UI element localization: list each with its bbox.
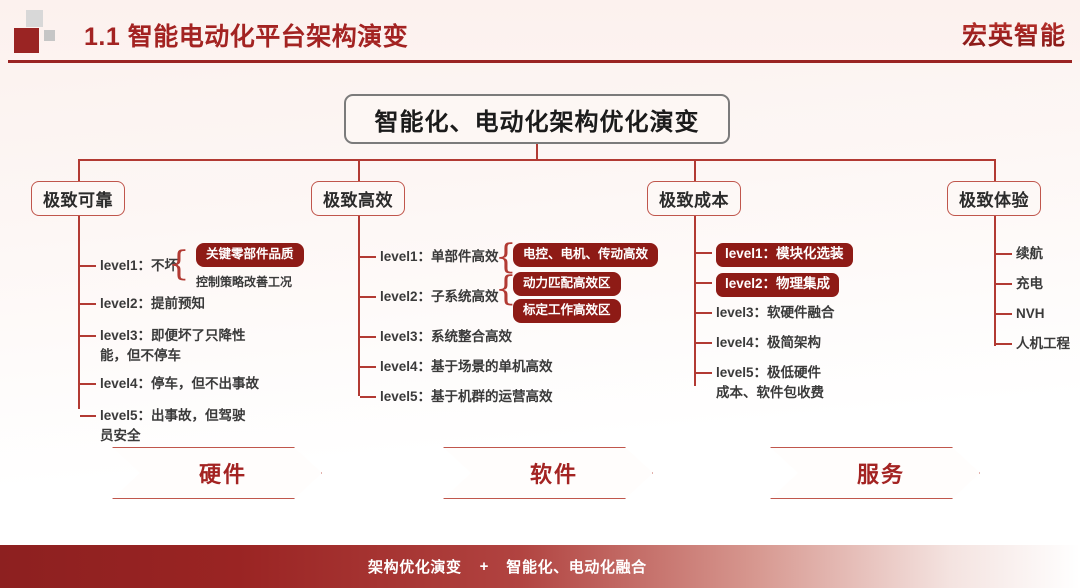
list-item: 人机工程	[996, 334, 1070, 354]
category-label-2: 极致高效	[323, 186, 393, 211]
list-item: level3：软硬件融合	[696, 303, 835, 323]
category-label-3: 极致成本	[659, 186, 729, 211]
category-box-efficiency: 极致高效	[311, 181, 405, 216]
category-box-cost: 极致成本	[647, 181, 741, 216]
chevron-label: 软件	[530, 457, 578, 489]
list-item: level5：出事故，但驾驶 员安全	[80, 406, 246, 445]
leaf-tick-icon	[360, 396, 376, 398]
leaf-label: level3：即便坏了只降性 能，但不停车	[100, 326, 246, 365]
list-item: level4：极简架构	[696, 333, 821, 353]
leaf-label: level3：系统整合高效	[380, 327, 512, 347]
leaf-label: level1：单部件高效	[380, 247, 499, 267]
leaf-tick-icon	[80, 335, 96, 337]
connector-root-stem	[536, 144, 538, 160]
chevron-hardware: 硬件	[112, 447, 322, 499]
list-item: level2：子系统高效	[360, 287, 499, 307]
leaf-tick-icon	[696, 372, 712, 374]
category-label-1: 极致可靠	[43, 186, 113, 211]
list-item: level1：不坏	[80, 256, 178, 276]
leaf-label: level1：不坏	[100, 256, 178, 276]
list-item: NVH	[996, 304, 1045, 324]
annotation-badge: 关键零部件品质	[196, 243, 304, 267]
list-item: level3：系统整合高效	[360, 327, 512, 347]
chevron-label: 服务	[857, 457, 905, 489]
leaf-label-highlighted: level1：模块化选装	[716, 243, 853, 267]
leaf-tick-icon	[360, 256, 376, 258]
slide-root: 1.1 智能电动化平台架构演变 宏英智能 智能化、电动化架构优化演变 极致可靠 …	[0, 0, 1080, 588]
category-box-reliability: 极致可靠	[31, 181, 125, 216]
decor-square-red	[14, 28, 39, 53]
list-item: level1：模块化选装	[696, 243, 853, 267]
brace-icon-col1: {	[168, 247, 190, 281]
root-node-box: 智能化、电动化架构优化演变	[344, 94, 730, 144]
leaf-label: 续航	[1016, 244, 1043, 264]
leaf-tick-icon	[80, 303, 96, 305]
leaf-label: 充电	[1016, 274, 1043, 294]
brand-logo: 宏英智能	[962, 16, 1066, 52]
slide-header: 1.1 智能电动化平台架构演变 宏英智能	[0, 0, 1080, 62]
decor-square-gray-top	[26, 10, 43, 27]
leaf-tick-icon	[360, 336, 376, 338]
leaf-tick-icon	[360, 366, 376, 368]
annotation-badge: 电控、电机、传动高效	[513, 243, 658, 267]
slide-footer: 架构优化演变 + 智能化、电动化融合	[0, 545, 1080, 588]
leaf-label: NVH	[1016, 304, 1045, 324]
header-divider	[8, 60, 1072, 63]
root-node-label: 智能化、电动化架构优化演变	[375, 102, 700, 137]
list-item: level3：即便坏了只降性 能，但不停车	[80, 326, 246, 365]
footer-plus-symbol: +	[480, 558, 489, 575]
connector-branch-3	[694, 159, 696, 181]
page-title: 1.1 智能电动化平台架构演变	[84, 17, 408, 53]
leaf-tick-icon	[996, 343, 1012, 345]
leaf-label: level5：出事故，但驾驶 员安全	[100, 406, 246, 445]
leaf-label: level5：极低硬件 成本、软件包收费	[716, 363, 824, 402]
chevron-label: 硬件	[199, 457, 247, 489]
leaf-tick-icon	[696, 342, 712, 344]
connector-horizontal-bus	[78, 159, 996, 161]
leaf-tick-icon	[696, 252, 712, 254]
leaf-tick-icon	[696, 282, 712, 284]
leaf-label-highlighted: level2：物理集成	[716, 273, 839, 297]
leaf-tick-icon	[80, 383, 96, 385]
footer-text-left: 架构优化演变	[368, 556, 462, 577]
chevron-service: 服务	[770, 447, 980, 499]
list-item: level2：提前预知	[80, 294, 205, 314]
list-item: level1：单部件高效	[360, 247, 499, 267]
list-item: 充电	[996, 274, 1043, 294]
leaf-label: level4：停车，但不出事故	[100, 374, 259, 394]
list-item: 续航	[996, 244, 1043, 264]
leaf-label: level4：基于场景的单机高效	[380, 357, 553, 377]
annotation-note: 控制策略改善工况	[196, 273, 292, 290]
leaf-tick-icon	[996, 313, 1012, 315]
chevron-software: 软件	[443, 447, 653, 499]
category-label-4: 极致体验	[959, 186, 1029, 211]
connector-branch-1	[78, 159, 80, 181]
leaf-tick-icon	[696, 312, 712, 314]
list-item: level4：基于场景的单机高效	[360, 357, 553, 377]
leaf-label: 人机工程	[1016, 334, 1070, 354]
list-item: level5：极低硬件 成本、软件包收费	[696, 363, 824, 402]
list-item: level2：物理集成	[696, 273, 839, 297]
annotation-badge: 标定工作高效区	[513, 299, 621, 323]
leaf-tick-icon	[80, 415, 96, 417]
leaf-label: level2：提前预知	[100, 294, 205, 314]
list-item: level4：停车，但不出事故	[80, 374, 259, 394]
leaf-tick-icon	[996, 283, 1012, 285]
leaf-tick-icon	[996, 253, 1012, 255]
category-box-experience: 极致体验	[947, 181, 1041, 216]
annotation-badge: 动力匹配高效区	[513, 272, 621, 296]
footer-text-right: 智能化、电动化融合	[506, 556, 646, 577]
decor-square-gray-small	[44, 30, 55, 41]
spine-column-3	[694, 216, 696, 386]
list-item: level5：基于机群的运营高效	[360, 387, 553, 407]
leaf-label: level4：极简架构	[716, 333, 821, 353]
leaf-tick-icon	[360, 296, 376, 298]
leaf-label: level5：基于机群的运营高效	[380, 387, 553, 407]
leaf-label: level3：软硬件融合	[716, 303, 835, 323]
connector-branch-4	[994, 159, 996, 181]
leaf-label: level2：子系统高效	[380, 287, 499, 307]
connector-branch-2	[358, 159, 360, 181]
leaf-tick-icon	[80, 265, 96, 267]
